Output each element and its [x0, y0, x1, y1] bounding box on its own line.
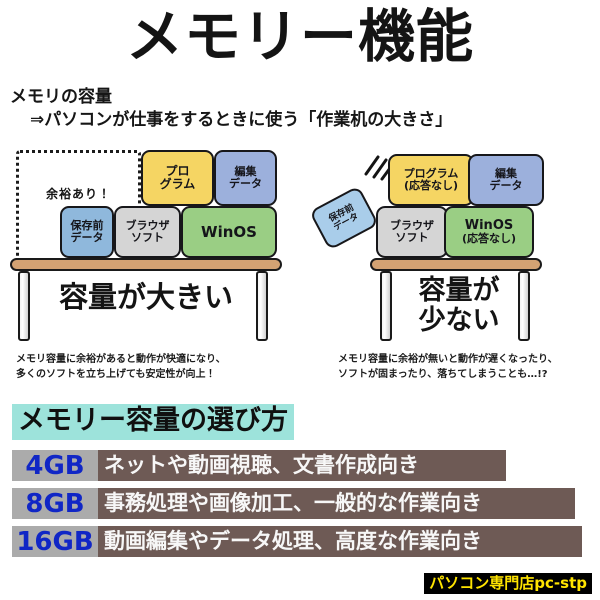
footnote-right-line1: メモリ容量に余裕が無いと動作が遅くなったり、 — [338, 352, 558, 367]
guide-desc-16gb: 動画編集やデータ処理、高度な作業向き — [98, 526, 582, 557]
block-program-left: プロ グラム — [141, 150, 214, 206]
desk-caption-right: 容量が 少ない — [384, 276, 534, 335]
footnote-right-line2: ソフトが固まったり、落ちてしまうことも…!? — [338, 367, 558, 382]
guide-row-16gb: 16GB 動画編集やデータ処理、高度な作業向き — [12, 526, 587, 557]
subtitle-line-1: メモリの容量 — [10, 86, 590, 109]
desk-caption-right-line1: 容量が — [384, 276, 534, 306]
block-winos-left-label: WinOS — [201, 224, 257, 241]
guide-size-4gb: 4GB — [12, 450, 98, 481]
block-program-right: プログラム (応答なし) — [388, 154, 474, 206]
block-browser-left: ブラウザ ソフト — [114, 206, 181, 258]
block-browser-left-line2: ソフト — [131, 232, 164, 244]
block-winos-right-line1: WinOS — [465, 219, 513, 234]
block-edit-data-left-line2: データ — [229, 178, 262, 190]
guide-heading: メモリー容量の選び方 — [12, 404, 294, 440]
footnote-left: メモリ容量に余裕があると動作が快適になり、 多くのソフトを立ち上げても安定性が向… — [16, 352, 226, 382]
block-program-right-line2: (応答なし) — [404, 180, 458, 192]
block-browser-right-line2: ソフト — [396, 232, 429, 244]
spare-capacity-label: 余裕あり！ — [46, 185, 111, 202]
guide-row-4gb: 4GB ネットや動画視聴、文書作成向き — [12, 450, 587, 481]
guide-row-8gb: 8GB 事務処理や画像加工、一般的な作業向き — [12, 488, 587, 519]
guide-size-16gb: 16GB — [12, 526, 98, 557]
block-winos-right-line2: (応答なし) — [462, 233, 516, 245]
block-edit-data-right: 編集 データ — [468, 154, 544, 206]
footer-shop-badge: パソコン専門店pc-stp — [424, 573, 592, 594]
desk-caption-left: 容量が大きい — [24, 282, 268, 314]
desk-caption-right-line2: 少ない — [384, 306, 534, 336]
subtitle-block: メモリの容量 ⇒パソコンが仕事をするときに使う「作業机の大きさ」 — [10, 86, 590, 132]
block-program-left-line1: プロ — [165, 165, 189, 178]
block-program-left-line2: グラム — [160, 178, 196, 191]
guide-size-8gb: 8GB — [12, 488, 98, 519]
subtitle-line-2: ⇒パソコンが仕事をするときに使う「作業机の大きさ」 — [10, 109, 590, 132]
block-edit-data-left: 編集 データ — [214, 150, 277, 206]
footnote-left-line2: 多くのソフトを立ち上げても安定性が向上！ — [16, 367, 226, 382]
guide-desc-4gb: ネットや動画視聴、文書作成向き — [98, 450, 506, 481]
block-winos-left: WinOS — [181, 206, 277, 258]
block-edit-data-right-line2: データ — [490, 180, 523, 192]
page-title: メモリー機能 — [0, 8, 600, 68]
block-unsaved-data-falling: 保存前 データ — [309, 185, 379, 250]
desk-top-right — [370, 258, 542, 271]
footnote-left-line1: メモリ容量に余裕があると動作が快適になり、 — [16, 352, 226, 367]
block-unsaved-data-left-line2: データ — [71, 232, 104, 244]
block-unsaved-data-left: 保存前 データ — [60, 206, 114, 258]
guide-desc-8gb: 事務処理や画像加工、一般的な作業向き — [98, 488, 575, 519]
block-browser-right: ブラウザ ソフト — [376, 206, 448, 258]
desk-top-left — [10, 258, 282, 271]
footnote-right: メモリ容量に余裕が無いと動作が遅くなったり、 ソフトが固まったり、落ちてしまうこ… — [338, 352, 558, 382]
block-winos-right: WinOS (応答なし) — [444, 206, 534, 258]
